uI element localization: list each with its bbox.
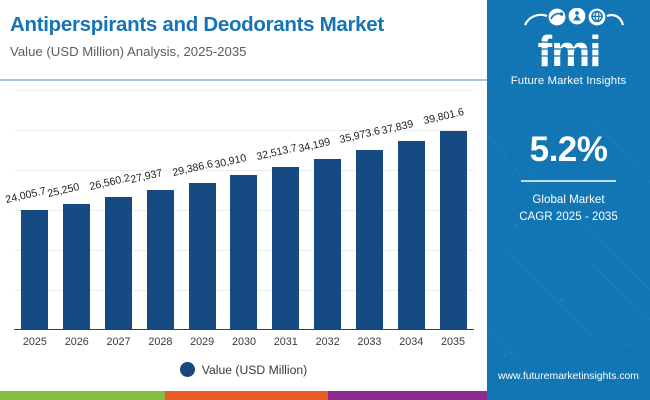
logo-icon-row [487,8,650,30]
brand-panel: fmi Future Market Insights 5.2% Global M… [487,0,650,400]
bar[interactable] [440,131,467,330]
plot-area: 24,005.725,25026,560.227,93729,386.630,9… [14,90,474,330]
page-title: Antiperspirants and Deodorants Market [10,12,487,38]
cagr-caption-line2: CAGR 2025 - 2035 [487,208,650,225]
x-axis-tick-label: 2028 [139,332,181,352]
bar-slot: 26,560.2 [98,90,140,330]
header-divider [0,79,487,81]
bar-value-label: 24,005.7 [4,185,47,206]
bar[interactable] [147,190,174,330]
bar-slot: 24,005.7 [14,90,56,330]
bar[interactable] [189,183,216,330]
cagr-caption-line1: Global Market [487,191,650,208]
x-axis-line [14,329,474,331]
bar[interactable] [314,159,341,330]
x-axis-tick-label: 2033 [349,332,391,352]
x-axis-tick-label: 2035 [432,332,474,352]
bottom-bar-segment-green [0,391,165,400]
bar[interactable] [398,141,425,330]
chart-legend: Value (USD Million) [0,362,487,377]
logo-badge-icons [487,8,650,30]
bar-series: 24,005.725,25026,560.227,93729,386.630,9… [14,90,474,330]
logo-tagline: Future Market Insights [487,75,650,87]
chart-screenshot: Antiperspirants and Deodorants Market Va… [0,0,650,400]
x-axis-tick-label: 2029 [181,332,223,352]
cagr-divider [521,180,616,182]
bar[interactable] [272,167,299,330]
x-axis-tick-label: 2034 [390,332,432,352]
cagr-value: 5.2% [487,130,650,170]
x-axis-tick-label: 2032 [307,332,349,352]
bar[interactable] [230,175,257,330]
brand-website-url: www.futuremarketinsights.com [487,371,650,382]
bar-slot: 34,199 [307,90,349,330]
bar-slot: 27,937 [139,90,181,330]
bar[interactable] [356,150,383,330]
brand-bottom-accent [487,391,650,400]
logo-wordmark: fmi [499,28,639,74]
page-subtitle: Value (USD Million) Analysis, 2025-2035 [10,42,487,62]
x-axis-ticks: 2025202620272028202920302031203220332034… [14,332,474,352]
chart-panel: Antiperspirants and Deodorants Market Va… [0,0,487,400]
chart-header: Antiperspirants and Deodorants Market Va… [0,0,487,80]
bar[interactable] [21,210,48,330]
bar-slot: 30,910 [223,90,265,330]
fmi-logo: fmi Future Market Insights [487,8,650,87]
legend-label: Value (USD Million) [202,363,307,377]
x-axis-tick-label: 2027 [98,332,140,352]
cagr-callout: 5.2% Global Market CAGR 2025 - 2035 [487,130,650,225]
x-axis-tick-label: 2031 [265,332,307,352]
bar-slot: 32,513.7 [265,90,307,330]
bottom-bar-segment-purple [328,391,487,400]
legend-swatch-icon [180,362,195,377]
bottom-color-bar [0,391,487,400]
x-axis-tick-label: 2025 [14,332,56,352]
svg-text:fmi: fmi [537,28,600,74]
x-axis-tick-label: 2030 [223,332,265,352]
bar-slot: 25,250 [56,90,98,330]
bar-slot: 39,801.6 [432,90,474,330]
x-axis-tick-label: 2026 [56,332,98,352]
bar-slot: 29,386.6 [181,90,223,330]
bar[interactable] [105,197,132,330]
bottom-bar-segment-orange [165,391,328,400]
bar[interactable] [63,204,90,330]
